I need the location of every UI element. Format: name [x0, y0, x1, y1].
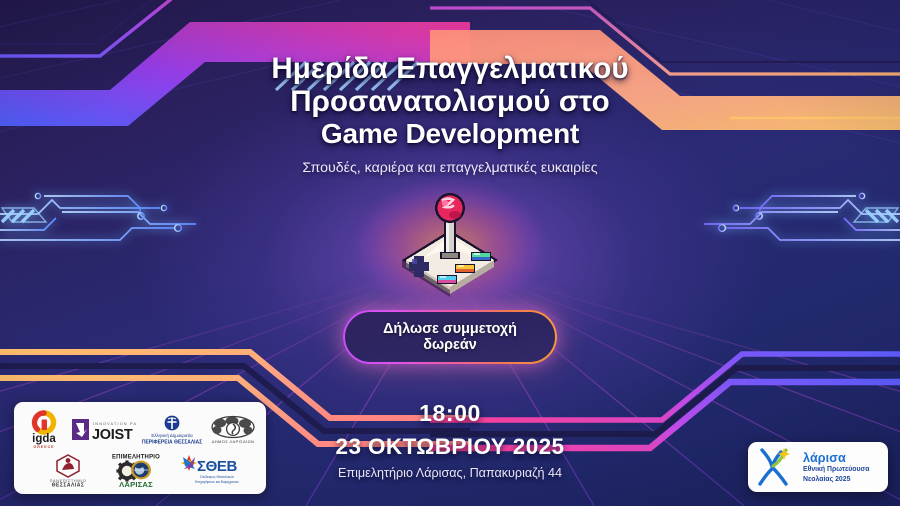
register-cta-button[interactable]: Δήλωσε συμμετοχή δωρεάν: [343, 310, 557, 364]
title-line-2: Προσανατολισμού στο: [0, 85, 900, 118]
svg-text:INNOVATION PARK: INNOVATION PARK: [93, 422, 136, 426]
chamber-larissa-logo: ΕΠΙΜΕΛΗΤΗΡΙΟ: [105, 452, 167, 488]
event-poster: Ημερίδα Επαγγελματικού Προσανατολισμού σ…: [0, 0, 900, 506]
svg-text:igda: igda: [32, 433, 56, 445]
svg-text:ΛΑΡΙΣΑΣ: ΛΑΡΙΣΑΣ: [119, 480, 153, 488]
register-cta-inner: Δήλωσε συμμετοχή δωρεάν: [345, 312, 554, 361]
svg-text:Ελληνική Δημοκρατία: Ελληνική Δημοκρατία: [151, 433, 193, 438]
svg-text:GREECE: GREECE: [33, 445, 54, 449]
svg-text:ΕΠΙΜΕΛΗΤΗΡΙΟ: ΕΠΙΜΕΛΗΤΗΡΙΟ: [112, 455, 160, 461]
svg-text:ΘΕΣΣΑΛΙΑΣ: ΘΕΣΣΑΛΙΑΣ: [51, 482, 84, 487]
larisa-youth-capital-icon: [754, 446, 798, 488]
badge-text: λάρισα Εθνική Πρωτεύουσα Νεολαίας 2025: [803, 451, 869, 484]
university-thessaly-logo: ΠΑΝΕΠΙΣΤΗΜΙΟ ΘΕΣΣΑΛΙΑΣ: [42, 453, 94, 487]
stheb-logo: ΣΘΕΒ Σύνδεσμος Θεσσαλικών Επιχειρήσεων κ…: [179, 453, 239, 487]
poster-subtitle: Σπουδές, καριέρα και επαγγελματικές ευκα…: [0, 160, 900, 176]
decor-circuit-right: [690, 178, 900, 263]
svg-text:ΣΘΕΒ: ΣΘΕΒ: [197, 458, 237, 475]
cta-label-line-2: δωρεάν: [423, 337, 476, 353]
title-line-1: Ημερίδα Επαγγελματικού: [0, 52, 900, 85]
svg-text:ΠΕΡΙΦΕΡΕΙΑ ΘΕΣΣΑΛΙΑΣ: ΠΕΡΙΦΕΡΕΙΑ ΘΕΣΣΑΛΙΑΣ: [141, 440, 201, 446]
region-thessaly-logo: Ελληνική Δημοκρατία ΠΕΡΙΦΕΡΕΙΑ ΘΕΣΣΑΛΙΑΣ: [141, 414, 203, 446]
decor-circuit-left: [0, 178, 210, 263]
svg-text:JOIST: JOIST: [92, 427, 133, 443]
sponsors-row-1: igda GREECE INNOVATION PARK JOIST: [20, 410, 260, 450]
municipality-larissa-logo: ΔΗΜΟΣ ΛΑΡΙΣΑΙΩΝ: [208, 414, 258, 446]
sponsors-panel: igda GREECE INNOVATION PARK JOIST: [14, 402, 266, 494]
igda-greece-logo: igda GREECE: [23, 410, 65, 450]
badge-subtitle-line-2: Νεολαίας 2025: [803, 476, 869, 484]
joystick-illustration: [350, 186, 550, 306]
badge-subtitle-line-1: Εθνική Πρωτεύουσα: [803, 466, 869, 474]
headline-block: Ημερίδα Επαγγελματικού Προσανατολισμού σ…: [0, 52, 900, 176]
larisa-youth-capital-badge: λάρισα Εθνική Πρωτεύουσα Νεολαίας 2025: [748, 442, 888, 492]
svg-text:ΔΗΜΟΣ ΛΑΡΙΣΑΙΩΝ: ΔΗΜΟΣ ΛΑΡΙΣΑΙΩΝ: [211, 439, 254, 444]
svg-text:Σύνδεσμος Θεσσαλικών: Σύνδεσμος Θεσσαλικών: [199, 475, 234, 479]
pixel-joystick-icon: [385, 190, 515, 302]
svg-text:Επιχειρήσεων και Βιομηχανιών: Επιχειρήσεων και Βιομηχανιών: [195, 480, 239, 484]
badge-title: λάρισα: [803, 451, 869, 465]
cta-label-line-1: Δήλωσε συμμετοχή: [383, 321, 517, 337]
title-line-3: Game Development: [0, 118, 900, 149]
sponsors-row-2: ΠΑΝΕΠΙΣΤΗΜΙΟ ΘΕΣΣΑΛΙΑΣ ΕΠΙΜΕΛΗΤΗΡΙΟ: [20, 452, 260, 488]
joist-logo: INNOVATION PARK JOIST: [70, 416, 136, 444]
